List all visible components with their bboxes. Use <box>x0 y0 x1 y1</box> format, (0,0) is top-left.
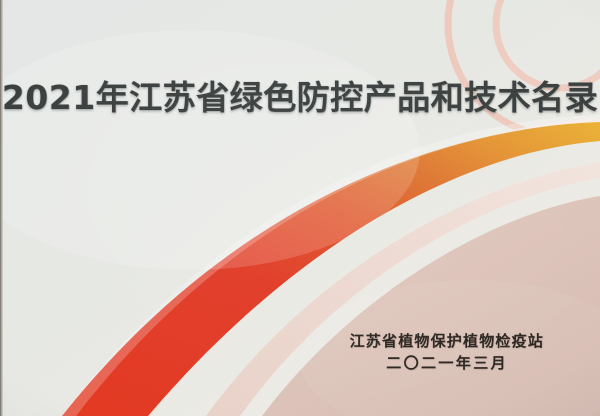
book-cover: 2021年江苏省绿色防控产品和技术名录 江苏省植物保护植物检疫站 二〇二一年三月 <box>0 0 600 416</box>
cover-title: 2021年江苏省绿色防控产品和技术名录 <box>0 76 600 120</box>
publication-date: 二〇二一年三月 <box>386 352 508 373</box>
publisher-line: 江苏省植物保护植物检疫站 <box>350 330 544 351</box>
book-spine-edge <box>0 0 3 416</box>
text-layer: 2021年江苏省绿色防控产品和技术名录 江苏省植物保护植物检疫站 二〇二一年三月 <box>0 0 600 416</box>
